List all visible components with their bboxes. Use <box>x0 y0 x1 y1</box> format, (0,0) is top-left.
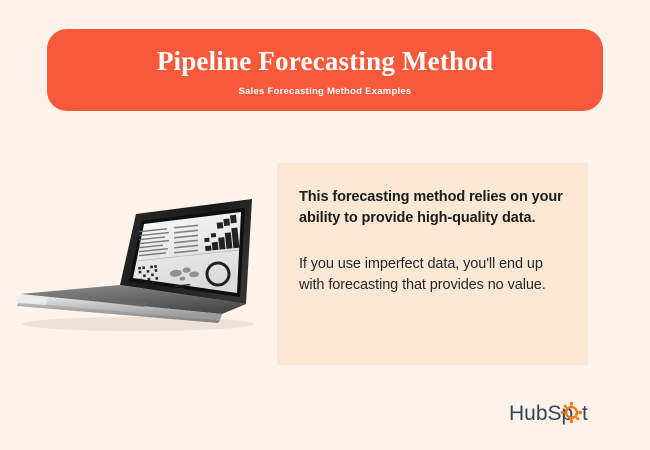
hubspot-logo[interactable]: HubSp <box>509 399 617 427</box>
hubspot-logo-svg: HubSp <box>509 399 617 427</box>
laptop-svg <box>8 186 270 338</box>
slide-canvas: Pipeline Forecasting Method Sales Foreca… <box>0 0 650 450</box>
laptop-illustration <box>8 186 270 338</box>
copy-body: If you use imperfect data, you'll end up… <box>299 254 566 296</box>
copy-heading: This forecasting method relies on your a… <box>299 187 566 228</box>
copy-panel: This forecasting method relies on your a… <box>277 163 588 365</box>
header-banner: Pipeline Forecasting Method Sales Foreca… <box>47 29 603 111</box>
page-title: Pipeline Forecasting Method <box>157 47 493 75</box>
hubspot-wordmark-after: t <box>582 402 588 425</box>
page-subtitle: Sales Forecasting Method Examples <box>239 86 412 97</box>
